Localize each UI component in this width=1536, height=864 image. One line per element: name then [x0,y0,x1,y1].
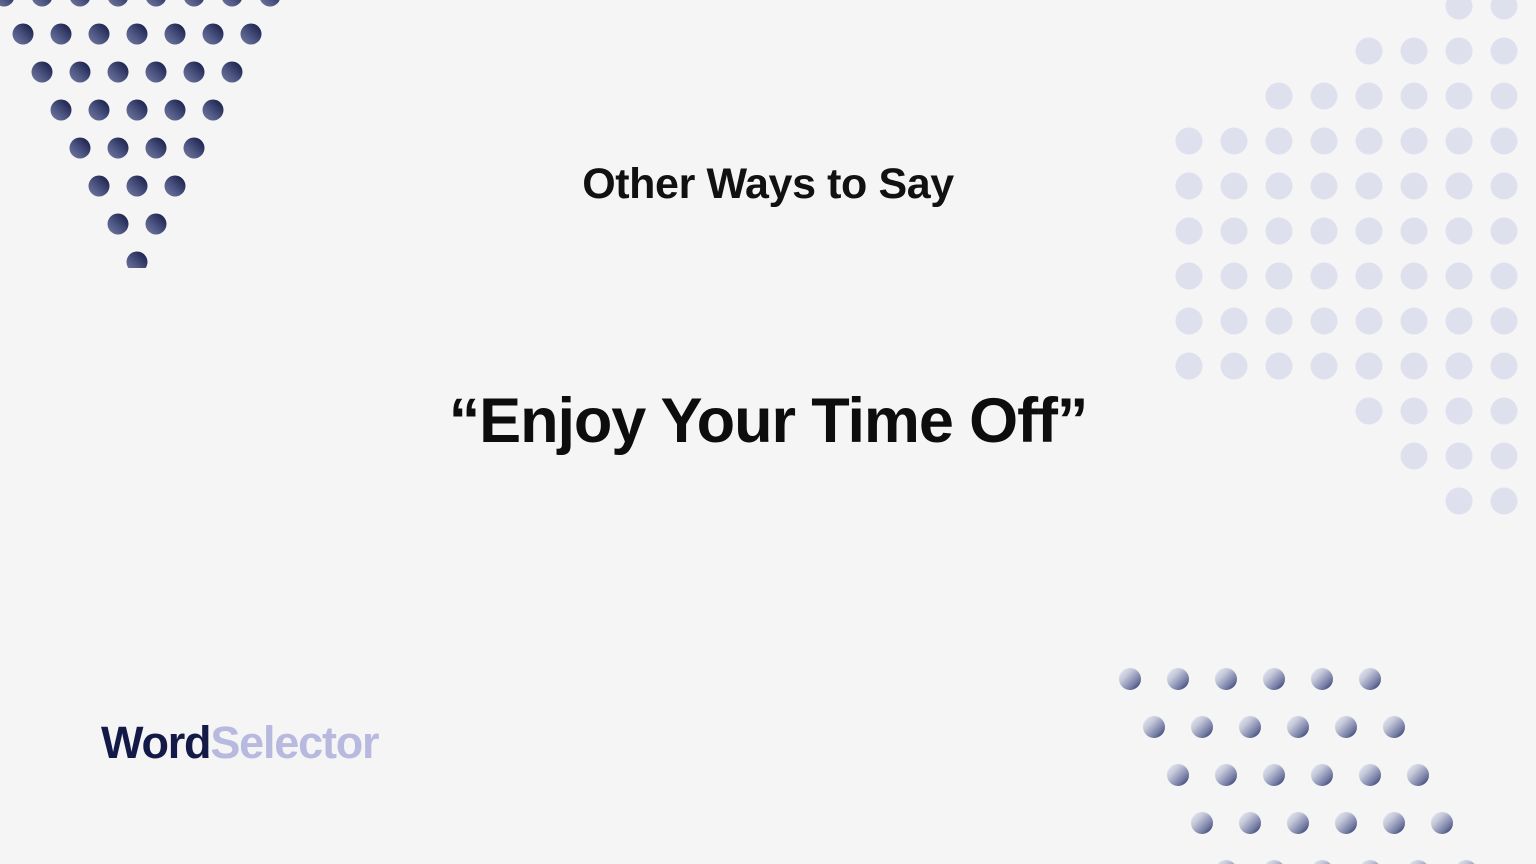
logo-secondary-text: Selector [210,717,378,768]
dot-grid-bottom-right [1112,661,1536,864]
eyebrow-text: Other Ways to Say [0,160,1536,209]
dot-grid-top-left [0,0,286,268]
logo-primary-text: Word [101,717,210,768]
slide-canvas: Other Ways to Say “Enjoy Your Time Off” … [0,0,1536,864]
page-title: “Enjoy Your Time Off” [0,385,1536,457]
wordselector-logo[interactable]: WordSelector [101,718,378,768]
